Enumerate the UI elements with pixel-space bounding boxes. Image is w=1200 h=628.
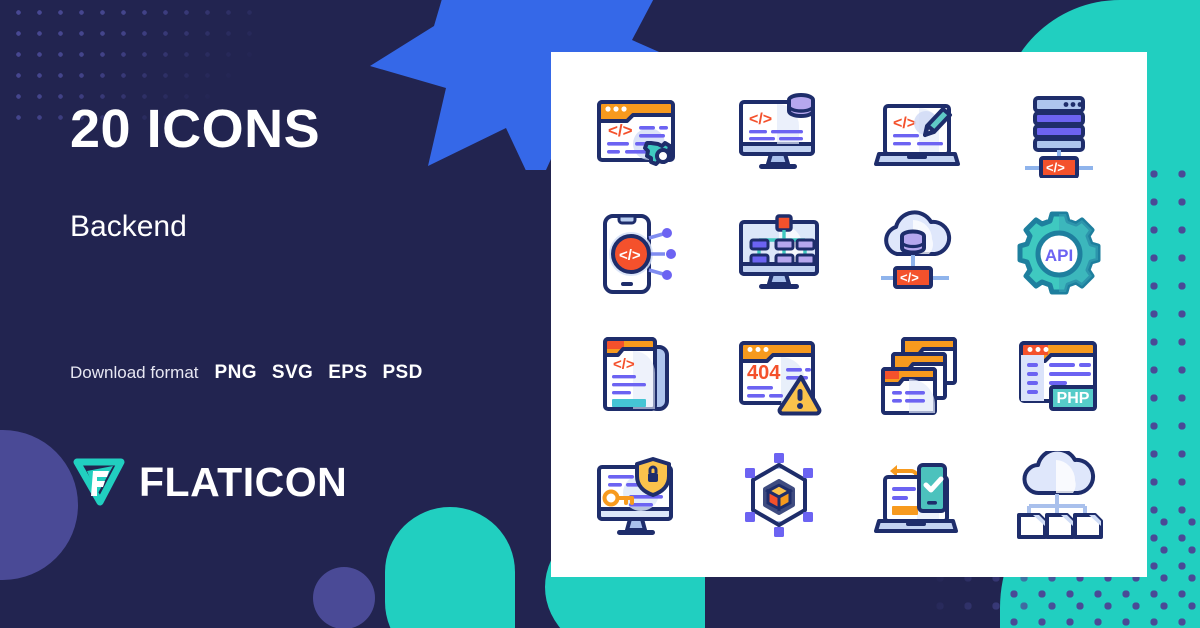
svg-text:</>: </> bbox=[900, 270, 919, 285]
brand-name: FLATICON bbox=[139, 459, 347, 506]
icon-grid: </> bbox=[551, 52, 1147, 577]
icon-cell-api-gear[interactable]: API bbox=[989, 194, 1129, 314]
cloud-database-code-icon: </> bbox=[871, 210, 967, 298]
icon-cell-error-404[interactable]: 404 bbox=[709, 315, 849, 435]
format-svg[interactable]: SVG bbox=[272, 362, 313, 384]
api-gear-icon: API bbox=[1011, 210, 1107, 298]
icon-cell-monitor-database-code[interactable]: </> bbox=[709, 74, 849, 194]
format-psd[interactable]: PSD bbox=[382, 362, 422, 384]
icon-cell-browser-code-settings[interactable]: </> bbox=[569, 74, 709, 194]
icon-cell-server-code[interactable]: </> bbox=[989, 74, 1129, 194]
icon-cell-cloud-database-code[interactable]: </> bbox=[849, 194, 989, 314]
brand-logo[interactable]: FLATICON bbox=[73, 458, 347, 506]
mobile-code-network-icon: </> bbox=[591, 210, 687, 298]
svg-text:</>: </> bbox=[893, 115, 916, 132]
download-format-list: PNG SVG EPS PSD bbox=[215, 362, 423, 384]
blockchain-cube-icon bbox=[731, 451, 827, 539]
monitor-sitemap-icon bbox=[731, 210, 827, 298]
download-format-label: Download format bbox=[70, 363, 199, 383]
laptop-mobile-sync-icon bbox=[871, 451, 967, 539]
icon-cell-stacked-windows[interactable] bbox=[849, 315, 989, 435]
flaticon-logo-icon bbox=[73, 458, 125, 506]
svg-text:</>: </> bbox=[619, 247, 641, 264]
page-title: 20 ICONS bbox=[70, 102, 320, 156]
icon-cell-laptop-code-edit[interactable]: </> bbox=[849, 74, 989, 194]
code-document-icon: </> bbox=[591, 331, 687, 419]
error-404-label: 404 bbox=[747, 362, 781, 384]
icon-cell-monitor-security-key[interactable] bbox=[569, 435, 709, 555]
error-404-icon: 404 bbox=[731, 331, 827, 419]
cloud-files-icon bbox=[1011, 451, 1107, 539]
banner-stage: 20 ICONS Backend Download format PNG SVG… bbox=[0, 0, 1200, 628]
download-format-row: Download format PNG SVG EPS PSD bbox=[70, 362, 423, 384]
icon-cell-laptop-mobile-sync[interactable] bbox=[849, 435, 989, 555]
icon-cell-code-document[interactable]: </> bbox=[569, 315, 709, 435]
icon-cell-mobile-code-network[interactable]: </> bbox=[569, 194, 709, 314]
svg-text:</>: </> bbox=[749, 111, 772, 128]
icon-cell-monitor-sitemap[interactable] bbox=[709, 194, 849, 314]
api-gear-label: API bbox=[1045, 246, 1073, 265]
icon-cell-cloud-files[interactable] bbox=[989, 435, 1129, 555]
purple-circle-left-icon bbox=[0, 430, 78, 580]
info-column: 20 ICONS Backend Download format PNG SVG… bbox=[70, 0, 540, 628]
page-subtitle: Backend bbox=[70, 210, 187, 244]
icon-cell-blockchain-cube[interactable] bbox=[709, 435, 849, 555]
laptop-code-edit-icon: </> bbox=[871, 90, 967, 178]
php-badge-label: PHP bbox=[1057, 390, 1090, 407]
server-code-icon: </> bbox=[1011, 90, 1107, 178]
monitor-security-key-icon bbox=[591, 451, 687, 539]
format-eps[interactable]: EPS bbox=[328, 362, 367, 384]
format-png[interactable]: PNG bbox=[215, 362, 257, 384]
icon-cell-php-window[interactable]: PHP bbox=[989, 315, 1129, 435]
icon-panel: </> bbox=[551, 52, 1147, 577]
svg-text:</>: </> bbox=[613, 356, 635, 373]
svg-text:</>: </> bbox=[1046, 160, 1065, 175]
browser-code-settings-icon: </> bbox=[591, 90, 687, 178]
stacked-windows-icon bbox=[871, 331, 967, 419]
php-window-icon: PHP bbox=[1011, 331, 1107, 419]
svg-text:</>: </> bbox=[608, 121, 633, 140]
monitor-database-code-icon: </> bbox=[731, 90, 827, 178]
